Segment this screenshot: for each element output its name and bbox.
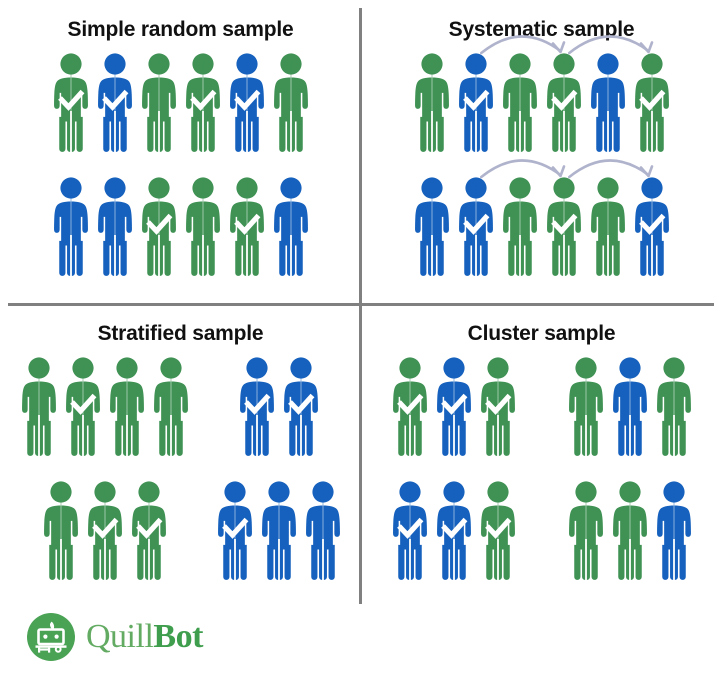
quillbot-wordmark: QuillBot [86, 620, 203, 654]
person-icon-selected [225, 51, 269, 161]
person-icon-selected [454, 51, 498, 161]
person-icon [652, 355, 696, 465]
vertical-divider [359, 8, 362, 604]
people-row [49, 51, 313, 161]
people-row [17, 479, 345, 589]
people-group [235, 355, 323, 465]
person-icon-selected [542, 51, 586, 161]
person-icon [105, 355, 149, 465]
person-icon-selected [432, 479, 476, 589]
panel-title-stratified-sample: Stratified sample [98, 322, 264, 345]
people-group [39, 479, 171, 589]
quillbot-robot-icon [26, 612, 76, 662]
people-group [213, 479, 345, 589]
person-icon [269, 175, 313, 285]
person-icon-selected [454, 175, 498, 285]
panel-stratified-sample: Stratified sample [0, 304, 361, 608]
person-icon-selected [279, 355, 323, 465]
person-icon-selected [542, 175, 586, 285]
person-icon [608, 355, 652, 465]
people-group [410, 51, 674, 161]
people-rows [410, 51, 674, 285]
person-icon [652, 479, 696, 589]
person-icon-selected [476, 479, 520, 589]
people-row [410, 51, 674, 161]
person-icon [608, 479, 652, 589]
people-group [49, 51, 313, 161]
panel-title-simple-random-sample: Simple random sample [68, 18, 294, 41]
panel-simple-random-sample: Simple random sample [0, 0, 361, 304]
people-group [49, 175, 313, 285]
people-row [410, 175, 674, 285]
person-icon-selected [83, 479, 127, 589]
panel-title-systematic-sample: Systematic sample [449, 18, 635, 41]
person-icon [586, 51, 630, 161]
person-icon [498, 51, 542, 161]
person-icon [149, 355, 193, 465]
logo-word-quill: Quill [86, 618, 153, 655]
person-icon [564, 479, 608, 589]
person-icon [301, 479, 345, 589]
people-group [564, 355, 696, 465]
person-icon-selected [630, 51, 674, 161]
person-icon [137, 51, 181, 161]
people-group [410, 175, 674, 285]
person-icon [181, 175, 225, 285]
person-icon-selected [225, 175, 269, 285]
person-icon-selected [49, 51, 93, 161]
person-icon [410, 175, 454, 285]
people-row [388, 479, 696, 589]
person-icon-selected [137, 175, 181, 285]
person-icon [17, 355, 61, 465]
people-group [17, 355, 193, 465]
person-icon-selected [630, 175, 674, 285]
person-icon-selected [213, 479, 257, 589]
person-icon-selected [476, 355, 520, 465]
person-icon [93, 175, 137, 285]
quillbot-logo: QuillBot [26, 612, 203, 662]
panel-title-cluster-sample: Cluster sample [468, 322, 616, 345]
panel-systematic-sample: Systematic sample [361, 0, 722, 304]
people-rows [17, 355, 345, 589]
person-icon-selected [235, 355, 279, 465]
panel-cluster-sample: Cluster sample [361, 304, 722, 608]
person-icon [39, 479, 83, 589]
people-row [49, 175, 313, 285]
person-icon-selected [93, 51, 137, 161]
person-icon-selected [388, 479, 432, 589]
logo-word-bot: Bot [153, 618, 203, 655]
person-icon [269, 51, 313, 161]
horizontal-divider [8, 303, 714, 306]
person-icon-selected [181, 51, 225, 161]
people-group [388, 479, 520, 589]
person-icon [410, 51, 454, 161]
people-row [17, 355, 345, 465]
people-rows [49, 51, 313, 285]
sampling-methods-infographic: Simple random sampleSystematic sampleStr… [0, 0, 722, 673]
person-icon-selected [61, 355, 105, 465]
person-icon-selected [432, 355, 476, 465]
person-icon [564, 355, 608, 465]
person-icon [498, 175, 542, 285]
people-group [564, 479, 696, 589]
person-icon-selected [127, 479, 171, 589]
people-group [388, 355, 520, 465]
person-icon [586, 175, 630, 285]
person-icon [257, 479, 301, 589]
person-icon [49, 175, 93, 285]
person-icon-selected [388, 355, 432, 465]
people-rows [388, 355, 696, 589]
people-row [388, 355, 696, 465]
